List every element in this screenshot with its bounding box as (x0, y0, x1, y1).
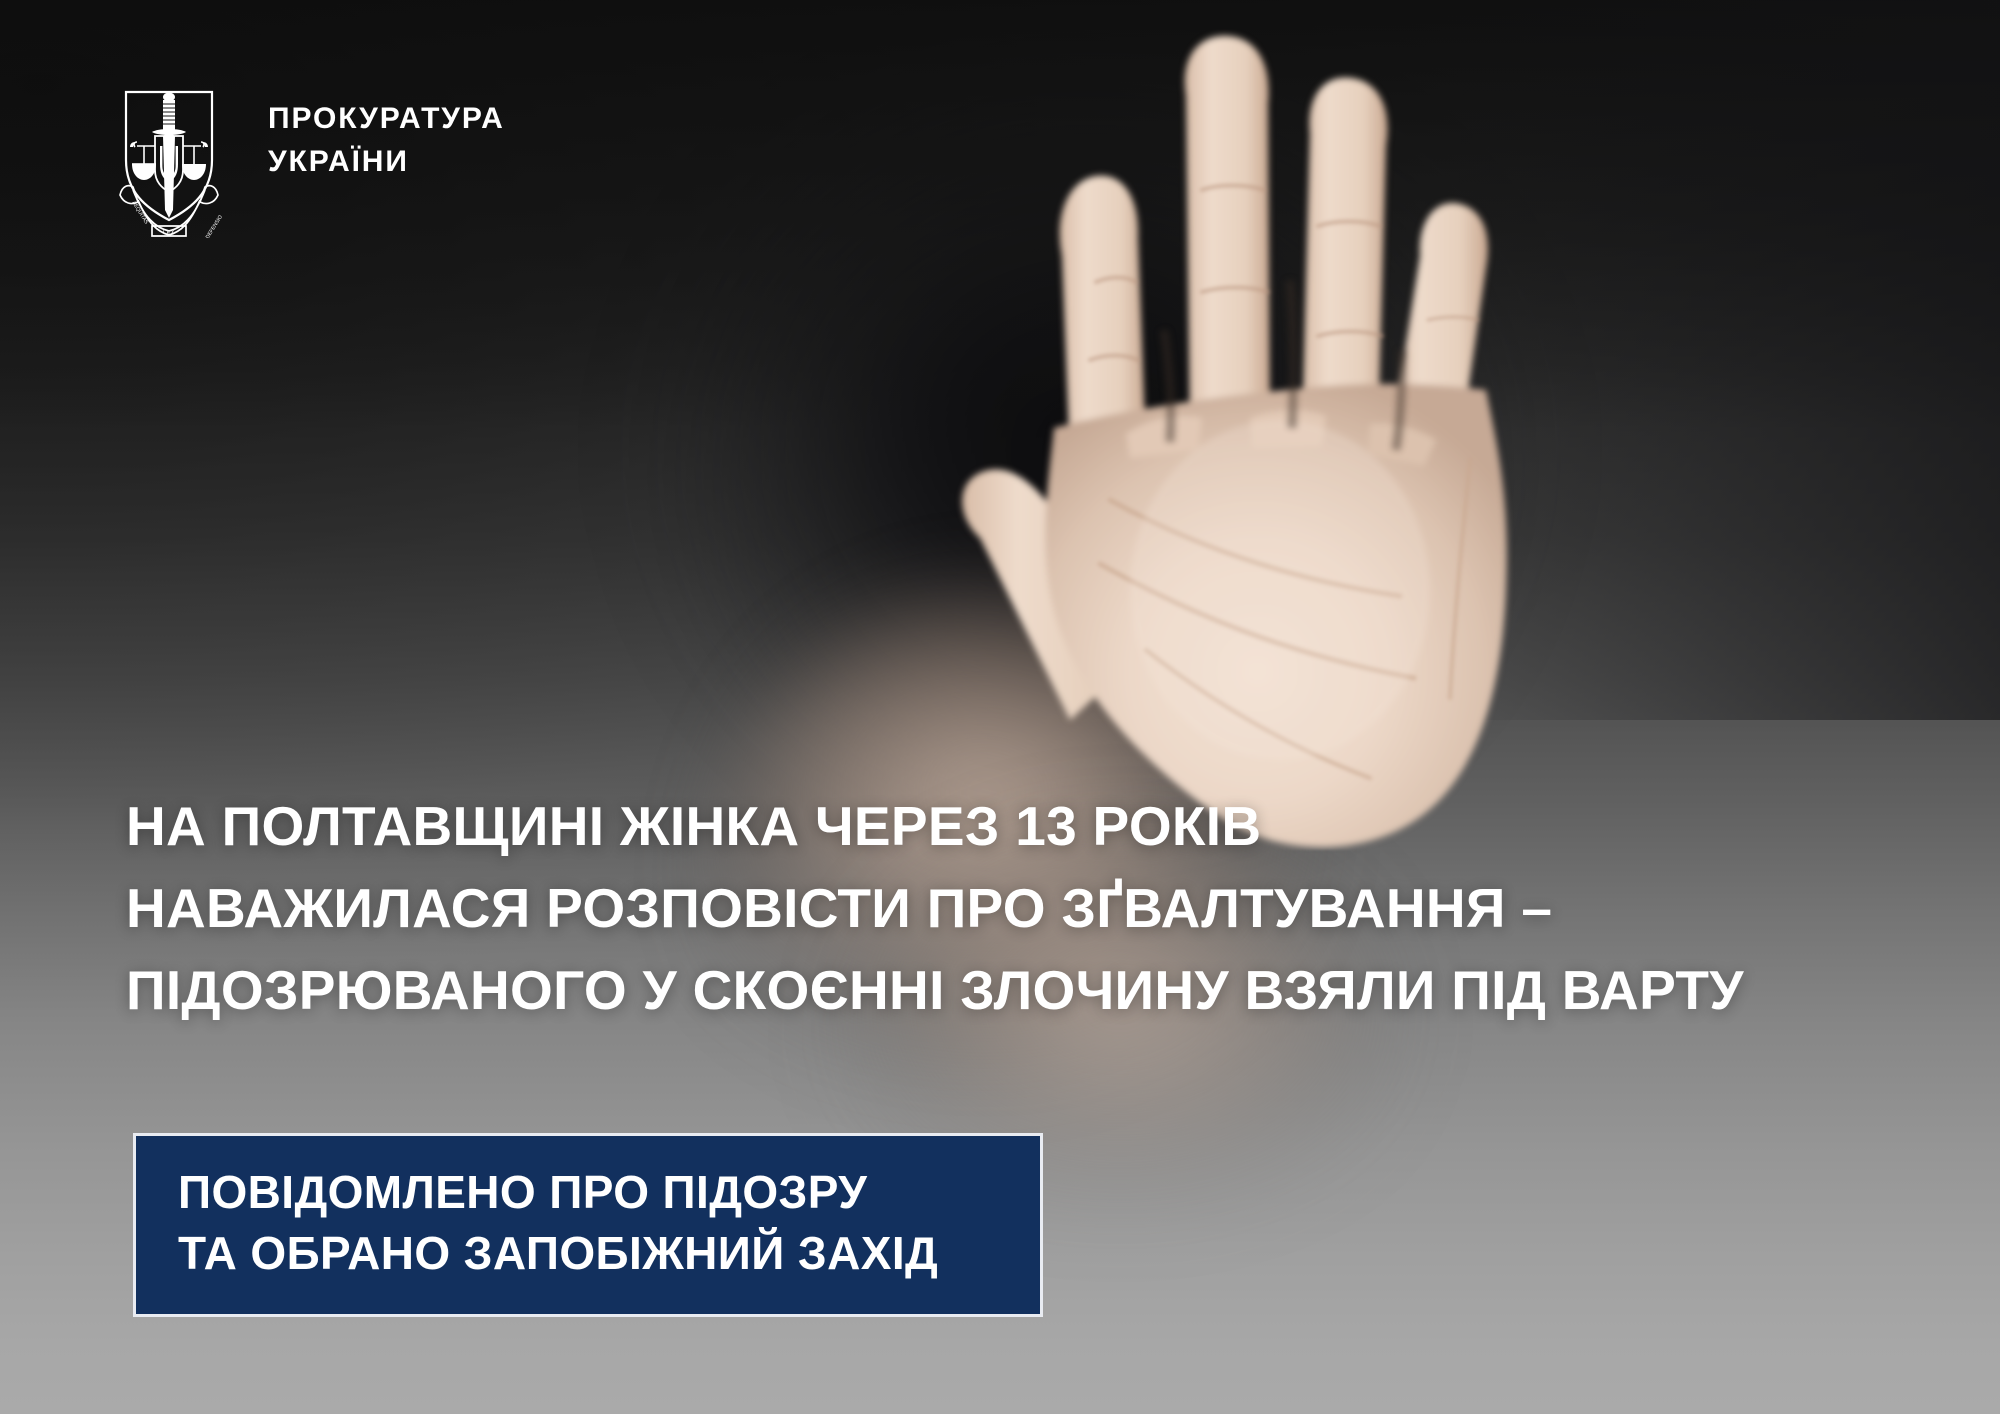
status-badge-line-1: ПОВІДОМЛЕНО ПРО ПІДОЗРУ (178, 1162, 1040, 1223)
brand-title: ПРОКУРАТУРА УКРАЇНИ (268, 78, 505, 183)
headline: НА ПОЛТАВЩИНІ ЖІНКА ЧЕРЕЗ 13 РОКІВ НАВАЖ… (126, 786, 1886, 1032)
poster-canvas: LEX AEQUITAS DEFENSIO ПРОКУРАТУРА УКРАЇН… (0, 0, 2000, 1414)
prosecutor-emblem-icon: LEX AEQUITAS DEFENSIO (108, 78, 230, 238)
emblem-motto-right: DEFENSIO (205, 214, 224, 238)
brand-lockup: LEX AEQUITAS DEFENSIO ПРОКУРАТУРА УКРАЇН… (108, 78, 505, 238)
status-badge: ПОВІДОМЛЕНО ПРО ПІДОЗРУ ТА ОБРАНО ЗАПОБІ… (133, 1133, 1043, 1317)
raised-hand-photo (950, 30, 1710, 850)
headline-line-3: ПІДОЗРЮВАНОГО У СКОЄННІ ЗЛОЧИНУ ВЗЯЛИ ПІ… (126, 950, 1886, 1032)
status-badge-line-2: ТА ОБРАНО ЗАПОБІЖНИЙ ЗАХІД (178, 1223, 1040, 1284)
headline-line-2: НАВАЖИЛАСЯ РОЗПОВІСТИ ПРО ЗҐВАЛТУВАННЯ – (126, 868, 1886, 950)
emblem-motto-center: LEX (163, 230, 175, 236)
headline-line-1: НА ПОЛТАВЩИНІ ЖІНКА ЧЕРЕЗ 13 РОКІВ (126, 786, 1886, 868)
